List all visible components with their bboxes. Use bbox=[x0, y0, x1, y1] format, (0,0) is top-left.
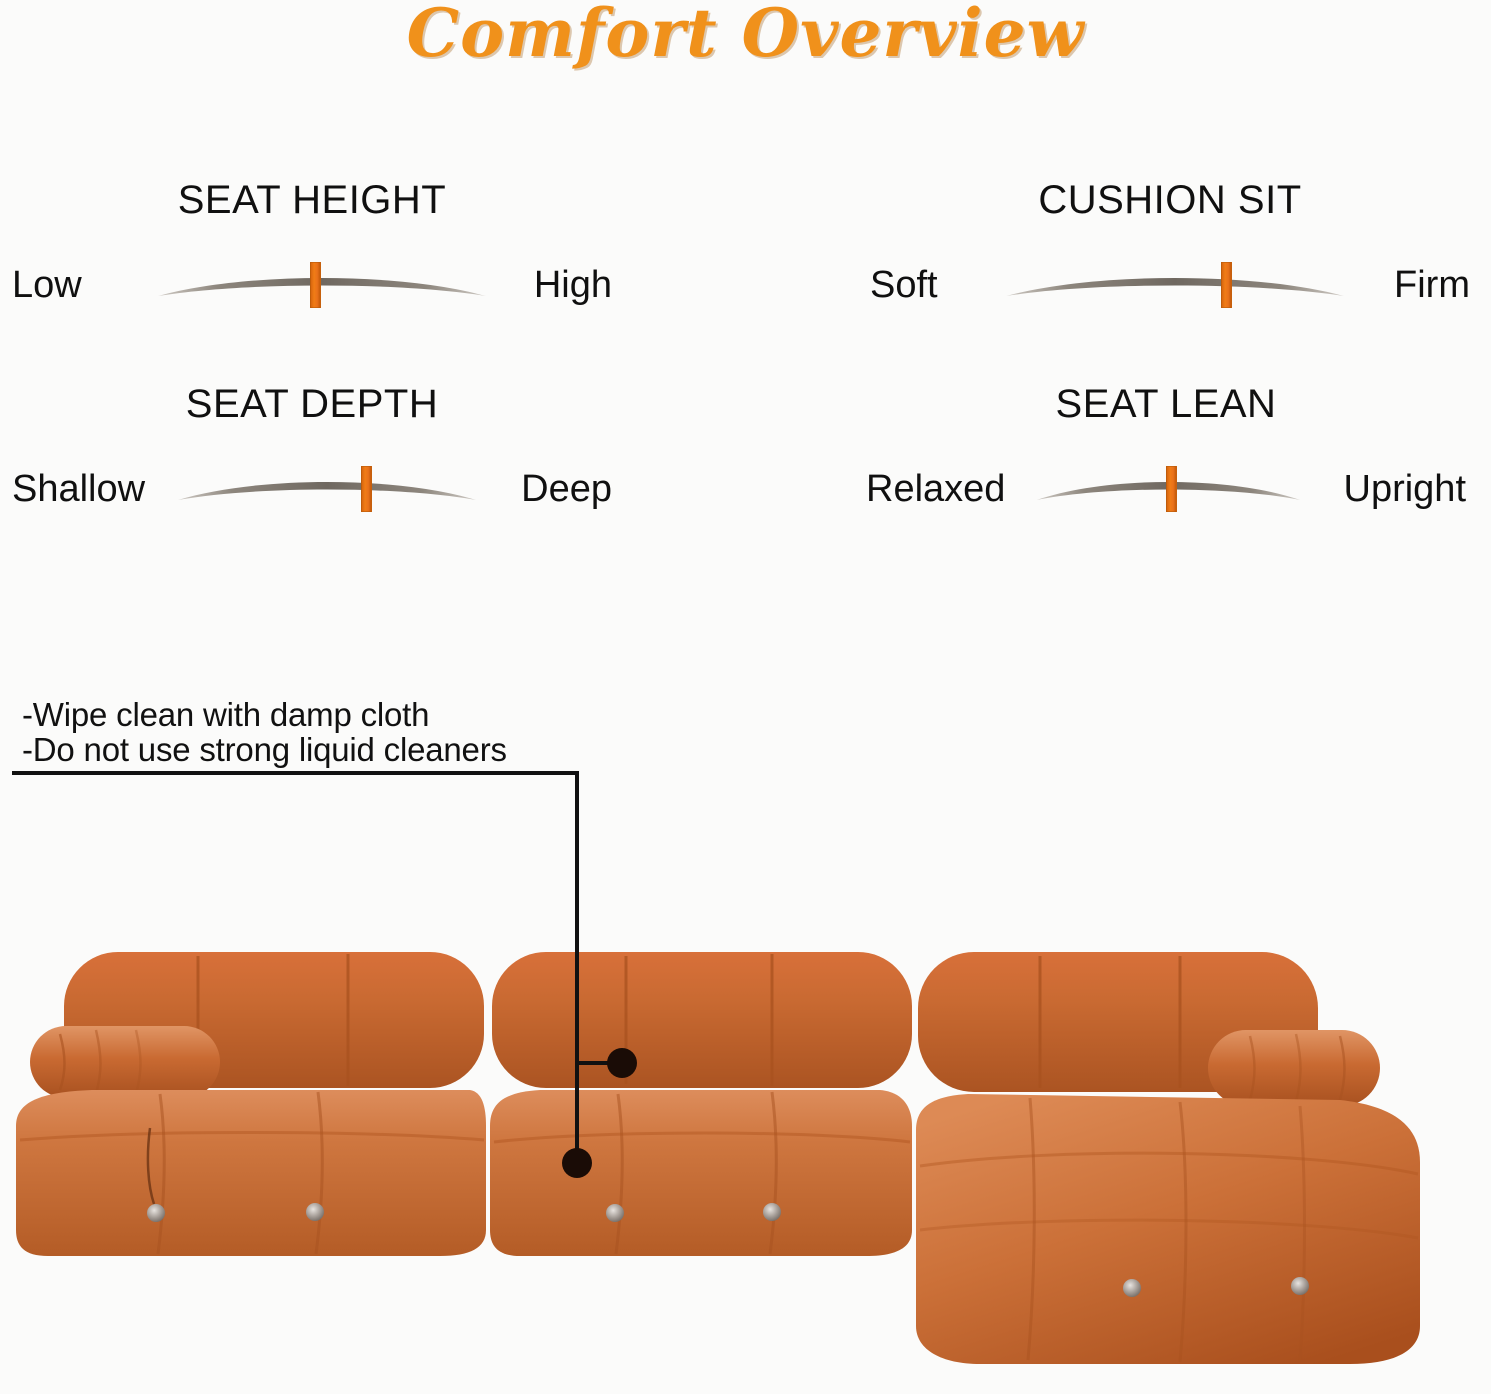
tufting-button bbox=[606, 1204, 624, 1222]
tufting-button bbox=[147, 1204, 165, 1222]
scale-marker-seat-lean[interactable] bbox=[1166, 466, 1177, 512]
metric-title-seat-height: SEAT HEIGHT bbox=[12, 178, 612, 223]
sofa-module-middle bbox=[490, 952, 912, 1256]
scale-label-shallow: Shallow bbox=[12, 470, 162, 508]
metric-seat-lean: SEAT LEAN Relaxed Upright bbox=[866, 382, 1466, 552]
metric-seat-depth: SEAT DEPTH Shallow Deep bbox=[12, 382, 612, 552]
tufting-button bbox=[1123, 1279, 1141, 1297]
scale-track-cushion-sit[interactable] bbox=[1004, 250, 1346, 320]
page-title: Comfort Overview bbox=[0, 0, 1491, 72]
tufting-button bbox=[763, 1203, 781, 1221]
tufting-button bbox=[1291, 1277, 1309, 1295]
scale-track-seat-height[interactable] bbox=[156, 250, 488, 320]
scale-arc-icon bbox=[1004, 250, 1346, 320]
scale-label-relaxed: Relaxed bbox=[866, 470, 1021, 508]
metric-title-seat-lean: SEAT LEAN bbox=[866, 382, 1466, 427]
scale-label-soft: Soft bbox=[870, 266, 990, 304]
scale-label-firm: Firm bbox=[1360, 266, 1470, 304]
scale-label-high: High bbox=[502, 266, 612, 304]
scale-arc-icon bbox=[176, 454, 478, 524]
sofa-module-right-chaise bbox=[916, 952, 1420, 1364]
scale-track-seat-depth[interactable] bbox=[176, 454, 478, 524]
scale-marker-cushion-sit[interactable] bbox=[1221, 262, 1232, 308]
metric-title-cushion-sit: CUSHION SIT bbox=[870, 178, 1470, 223]
infographic-page: Comfort Overview SEAT HEIGHT Low bbox=[0, 0, 1491, 1394]
scale-label-upright: Upright bbox=[1316, 470, 1466, 508]
scale-marker-seat-depth[interactable] bbox=[361, 466, 372, 512]
scale-arc-icon bbox=[156, 250, 488, 320]
metric-seat-height: SEAT HEIGHT Low bbox=[12, 178, 612, 348]
scale-label-low: Low bbox=[12, 266, 142, 304]
scale-track-seat-lean[interactable] bbox=[1035, 454, 1302, 524]
care-instruction-line-1: -Wipe clean with damp cloth bbox=[22, 697, 582, 732]
care-instructions: -Wipe clean with damp cloth -Do not use … bbox=[22, 697, 582, 768]
metric-title-seat-depth: SEAT DEPTH bbox=[12, 382, 612, 427]
metric-cushion-sit: CUSHION SIT Soft Firm bbox=[870, 178, 1470, 348]
scale-row-seat-depth: Shallow Deep bbox=[12, 454, 612, 524]
scale-row-seat-lean: Relaxed Upright bbox=[866, 454, 1466, 524]
scale-label-deep: Deep bbox=[492, 470, 612, 508]
scale-row-seat-height: Low High bbox=[12, 250, 612, 320]
care-instruction-line-2: -Do not use strong liquid cleaners bbox=[22, 732, 582, 767]
scale-row-cushion-sit: Soft Firm bbox=[870, 250, 1470, 320]
tufting-button bbox=[306, 1203, 324, 1221]
product-sofa-illustration bbox=[0, 930, 1491, 1394]
sofa-module-left bbox=[16, 952, 486, 1256]
scale-marker-seat-height[interactable] bbox=[310, 262, 321, 308]
